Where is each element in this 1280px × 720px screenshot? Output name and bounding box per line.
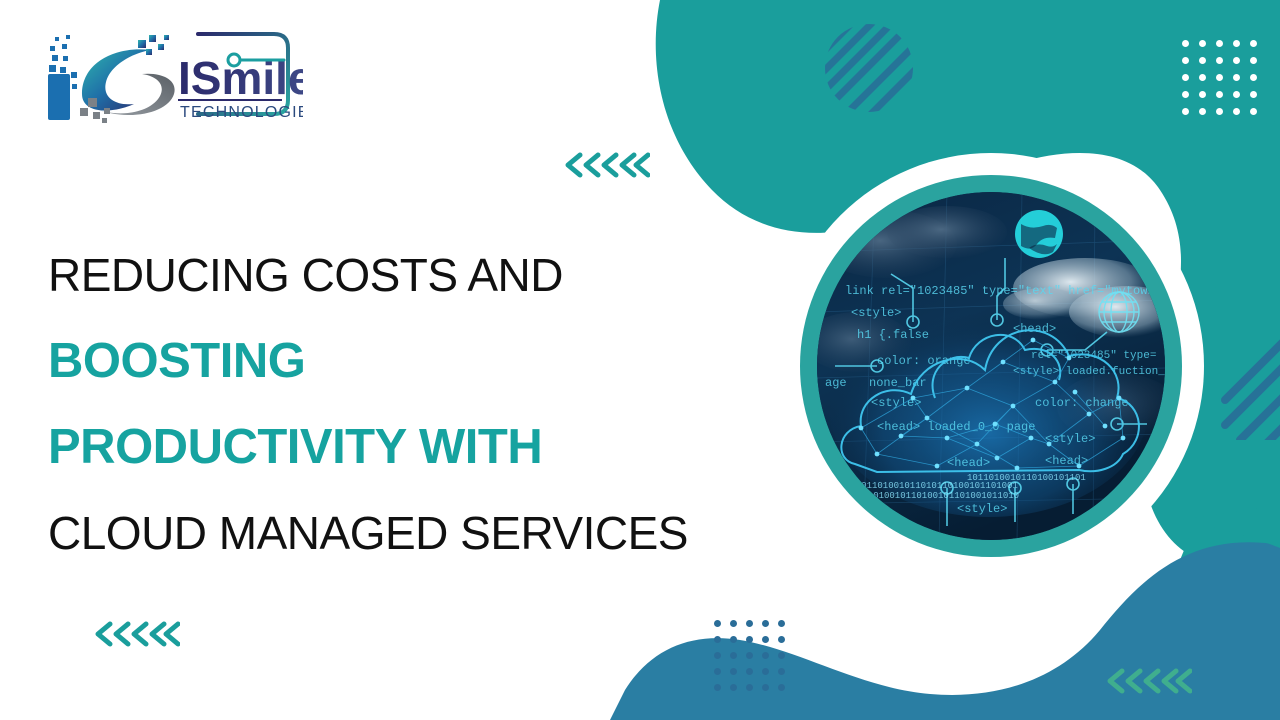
- svg-text:<head>: <head>: [1045, 454, 1088, 468]
- promo-banner: ISmile TECHNOLOGIES REDUCING COSTS AND B…: [0, 0, 1280, 720]
- svg-text:h1 {.false: h1 {.false: [857, 328, 929, 342]
- headline-line-4: CLOUD MANAGED SERVICES: [48, 490, 768, 576]
- svg-text:<style>: <style>: [1045, 432, 1095, 446]
- svg-text:1011010010110100101101: 1011010010110100101101: [967, 473, 1086, 483]
- dot-grid-bottom-middle: [714, 620, 770, 676]
- chevrons-left-bottom-left: [92, 618, 180, 650]
- cloud-network-technology-photo: link rel="1023485" type="text" href="myt…: [817, 192, 1165, 540]
- svg-text:011010010110100101101001011010: 011010010110100101101001011010: [857, 491, 1019, 501]
- pixel-bar-icon: [48, 35, 77, 120]
- logo[interactable]: ISmile TECHNOLOGIES: [38, 22, 303, 127]
- svg-text:color: orange: color: orange: [877, 354, 971, 368]
- headline-line-1: REDUCING COSTS AND: [48, 232, 768, 318]
- svg-text:<head> loaded_0_0 page: <head> loaded_0_0 page: [877, 420, 1035, 434]
- logo-tagline: TECHNOLOGIES: [180, 104, 303, 121]
- svg-text:<style>: <style>: [957, 502, 1007, 516]
- svg-text:color: change: color: change: [1035, 396, 1129, 410]
- svg-text:<style> loaded.fuction_11..: <style> loaded.fuction_11..: [1013, 366, 1165, 378]
- svg-text:<style>: <style>: [851, 306, 901, 320]
- svg-text:age: age: [825, 376, 847, 390]
- hero-image-ring: link rel="1023485" type="text" href="myt…: [800, 175, 1182, 557]
- pixel-trail-icon: [138, 35, 169, 55]
- headline-line-3: PRODUCTIVITY WITH: [48, 404, 768, 490]
- chevrons-left-bottom-right: [1104, 665, 1192, 697]
- dot-grid-top-right: [1182, 40, 1254, 112]
- headline-line-2: BOOSTING: [48, 318, 768, 404]
- globe-icon: [1015, 210, 1063, 258]
- headline-block: REDUCING COSTS AND BOOSTING PRODUCTIVITY…: [48, 232, 768, 576]
- chevrons-left-top: [562, 149, 650, 181]
- svg-text:<head>: <head>: [947, 456, 990, 470]
